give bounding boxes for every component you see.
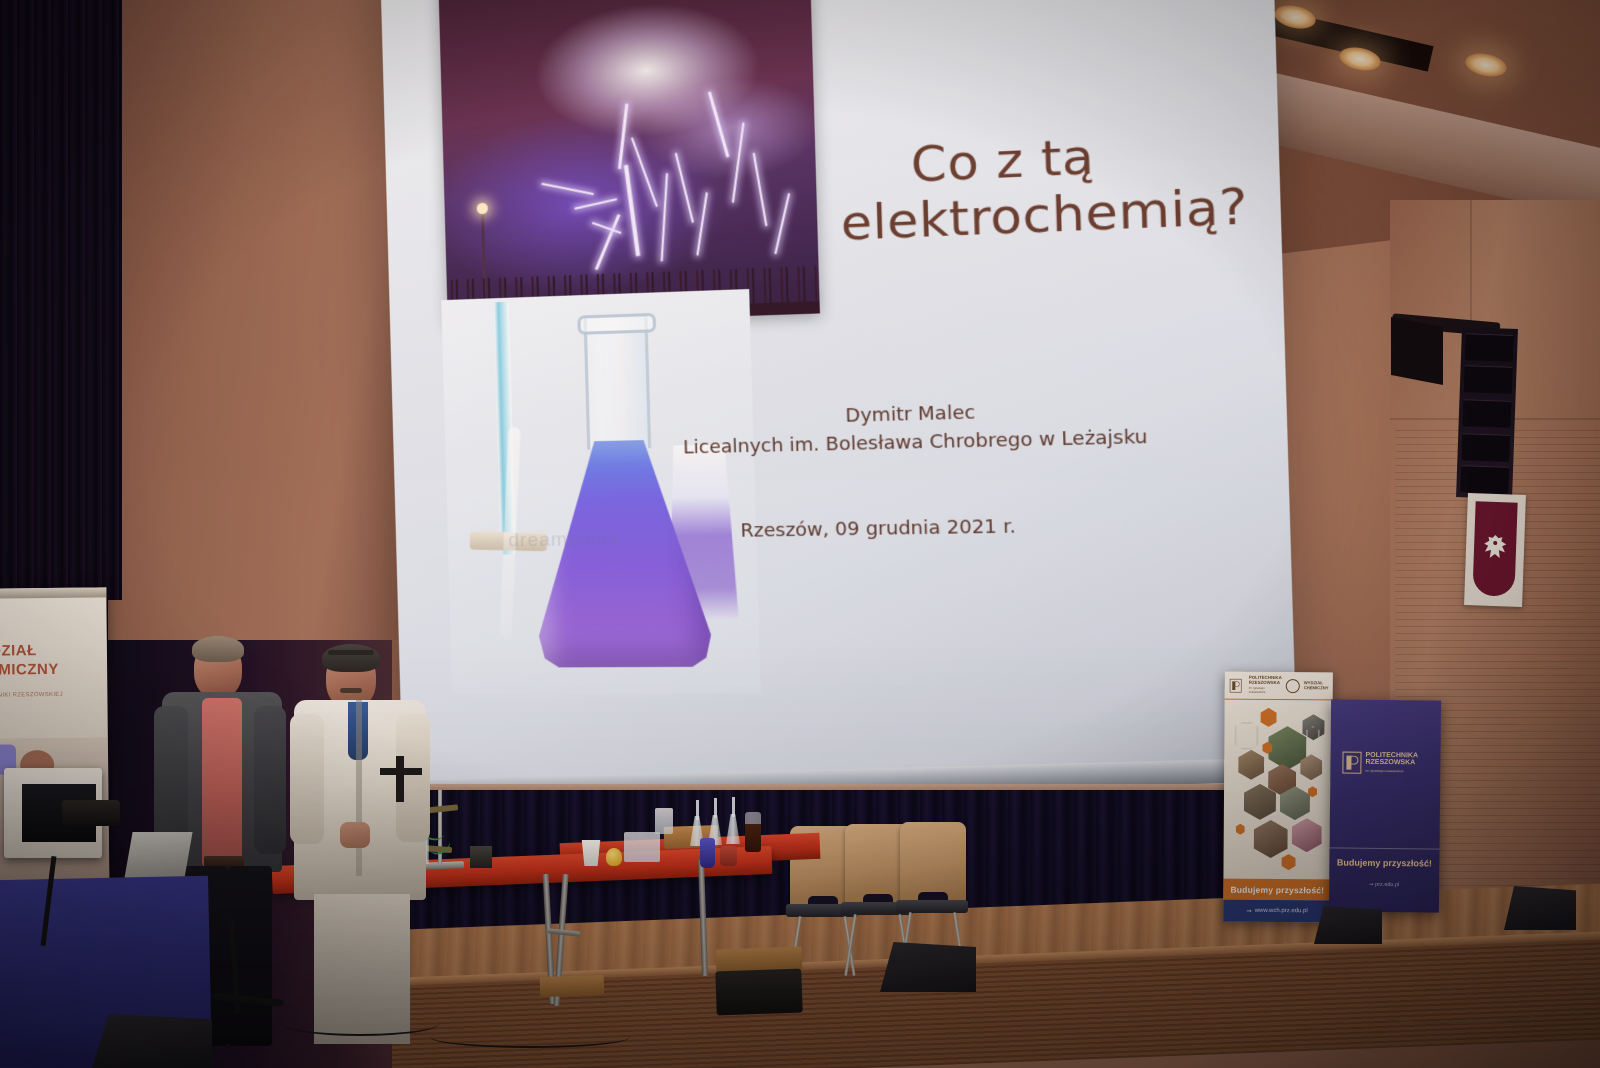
black-storage-bin	[715, 969, 802, 1016]
banner-white-slogan: Budujemy przyszłość!	[1223, 879, 1331, 901]
yellow-reagent-bottle	[606, 848, 622, 866]
lab-coat-button-placket	[356, 700, 362, 876]
stage-monitor-wedge-1	[880, 942, 976, 992]
held-apparatus-crossbar	[380, 768, 422, 775]
stage-monitor-wedge-3	[1504, 886, 1576, 930]
banner-white-hex-collage	[1223, 702, 1332, 883]
held-apparatus-rod	[396, 756, 404, 802]
banner-left-title: WYDZIAŁ CHEMICZNY	[0, 642, 85, 681]
politechnika-logo-icon-blue	[1342, 752, 1361, 774]
blue-reagent-bottle	[700, 838, 715, 868]
stage-curtain-left	[0, 0, 122, 600]
slide-author-block: Dymitr Malec Licealnych im. Bolesława Ch…	[681, 394, 1149, 462]
banner-blue-logo-row: POLITECHNIKA RZESZOWSKA im. Ignacego Łuk…	[1342, 752, 1418, 775]
stage-chair-3	[900, 822, 966, 902]
video-camera	[62, 800, 120, 826]
arrow-right-icon: ➞	[1247, 907, 1252, 914]
banner-blue-logo-text: POLITECHNIKA RZESZOWSKA im. Ignacego Łuk…	[1365, 752, 1418, 775]
volumetric-flask-neck-2	[714, 798, 717, 818]
chair-backrest	[900, 822, 966, 902]
wydzial-chemiczny-logo-icon	[1286, 679, 1300, 693]
glass-bottle-clear	[655, 808, 673, 834]
banner-left-title-line-1: WYDZIAŁ	[0, 642, 85, 662]
glass-tray	[624, 832, 660, 862]
arrow-right-icon-blue: ➞	[1369, 882, 1374, 888]
dark-reagent-bottle	[745, 812, 761, 852]
wooden-riser-block-2	[540, 975, 605, 997]
presenter-hands	[340, 822, 370, 848]
floor-cable-3	[1370, 1000, 1540, 1024]
erlenmeyer-flask	[528, 313, 713, 667]
auditorium-left-wall-panel	[108, 0, 398, 640]
host-arm-right	[254, 706, 286, 854]
presenter-arm-left	[290, 714, 324, 844]
banner-blue-divider	[1330, 847, 1440, 849]
banner-white-logo-secondary: WYDZIAŁ CHEMICZNY	[1304, 681, 1329, 690]
floor-cable-2	[430, 1026, 630, 1048]
small-black-box	[470, 846, 492, 868]
lecture-hall-photo: dreamstime Co z tą elektrochemią? Dymitr…	[0, 0, 1600, 1068]
storm-photo-pole-light	[477, 203, 488, 215]
host-hair	[192, 636, 244, 662]
banner-left-subtitle: POLITECHNIKI RZESZOWSKIEJ	[0, 692, 95, 699]
banner-blue-url: ➞ prz.edu.pl	[1329, 881, 1439, 888]
projection-screen: dreamstime Co z tą elektrochemią? Dymitr…	[380, 0, 1300, 844]
speaker-mount-plate	[1391, 317, 1443, 385]
volumetric-flask-neck-1	[696, 800, 699, 820]
slide-image-lightning-storm	[438, 0, 819, 326]
slide-title: Co z tą elektrochemią?	[839, 126, 1172, 251]
foreground-speaker	[92, 1014, 212, 1068]
volumetric-flask-neck-3	[732, 797, 735, 817]
banner-white-url: ➞ www.wch.prz.edu.pl	[1223, 900, 1331, 923]
line-array-speaker	[1456, 327, 1518, 499]
banner-white-logo-primary: POLITECHNIKA RZESZOWSKA im. Ignacego Łuk…	[1249, 676, 1282, 695]
banner-blue-slogan: Budujemy przyszłość!	[1329, 857, 1439, 868]
banner-blue-rollup: POLITECHNIKA RZESZOWSKA im. Ignacego Łuk…	[1329, 699, 1441, 912]
presenter-moustache	[340, 688, 362, 693]
presenter-hair	[322, 644, 380, 672]
banner-left-top-bar	[0, 587, 106, 598]
banner-left-title-line-2: CHEMICZNY	[0, 660, 85, 680]
coat-of-arms-shield	[1472, 501, 1517, 596]
banner-white-rollup: POLITECHNIKA RZESZOWSKA im. Ignacego Łuk…	[1223, 672, 1333, 923]
red-reagent-bottle	[720, 846, 737, 866]
floor-cable	[280, 1010, 440, 1036]
banner-white-logo-row: POLITECHNIKA RZESZOWSKA im. Ignacego Łuk…	[1225, 672, 1333, 701]
white-eagle-icon	[1479, 531, 1510, 566]
slide-image-flask: dreamstime	[441, 289, 761, 694]
host-shirt	[202, 698, 242, 868]
stage-monitor-wedge-2	[1314, 906, 1382, 944]
politechnika-logo-icon	[1230, 678, 1242, 692]
polish-coat-of-arms-plaque	[1464, 493, 1526, 607]
glasses-on-head-icon	[328, 650, 374, 655]
